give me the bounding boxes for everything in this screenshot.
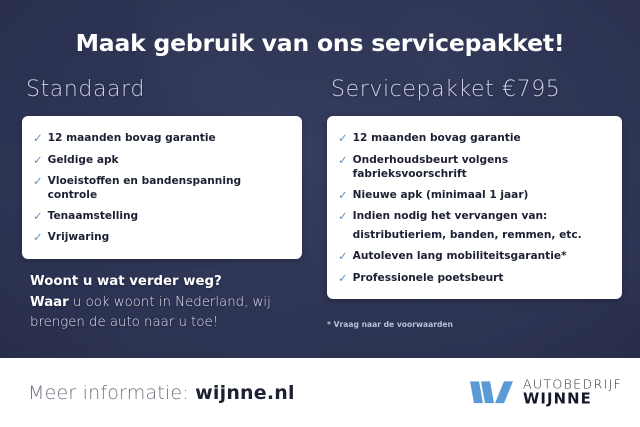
column-title-servicepakket: Servicepakket €795 (331, 77, 622, 102)
delivery-note-line2: Waar u ook woont in Nederland, wij (30, 293, 310, 314)
column-standaard: Standaard ✓ 12 maanden bovag garantie ✓ … (0, 77, 320, 299)
list-item-label: 12 maanden bovag garantie (48, 131, 216, 145)
service-package-banner: Maak gebruik van ons servicepakket! Stan… (0, 0, 640, 427)
more-info-prefix: Meer informatie: (28, 382, 195, 404)
feature-list-servicepakket: ✓ 12 maanden bovag garantie ✓ Onderhouds… (338, 128, 608, 288)
column-title-standaard: Standaard (26, 77, 302, 102)
list-item-label: Professionele poetsbeurt (353, 271, 504, 285)
check-icon: ✓ (33, 153, 43, 167)
list-item: ✓ Vloeistoffen en bandenspanning control… (33, 170, 288, 205)
list-item: ✓ Professionele poetsbeurt (338, 267, 608, 288)
check-icon: ✓ (338, 188, 348, 202)
website-link[interactable]: wijnne.nl (195, 382, 295, 404)
list-item-label: Vrijwaring (48, 230, 110, 244)
list-item-label: Onderhoudsbeurt volgens fabrieksvoorschr… (353, 153, 608, 182)
feature-list-standaard: ✓ 12 maanden bovag garantie ✓ Geldige ap… (33, 128, 288, 248)
banner-headline: Maak gebruik van ons servicepakket! (0, 29, 640, 57)
list-item-label: Nieuwe apk (minimaal 1 jaar) (353, 188, 529, 202)
check-icon: ✓ (338, 153, 348, 167)
list-item: ✓ 12 maanden bovag garantie (338, 128, 608, 149)
check-icon: ✓ (33, 174, 43, 188)
list-item-label: Vloeistoffen en bandenspanning controle (48, 174, 288, 203)
list-item: ✓ Nieuwe apk (minimaal 1 jaar) (338, 185, 608, 206)
list-item: ✓ Onderhoudsbeurt volgens fabrieksvoorsc… (338, 149, 608, 184)
delivery-note-line3: brengen de auto naar u toe! (30, 313, 310, 334)
check-icon: ✓ (338, 209, 348, 223)
delivery-note-heading: Woont u wat verder weg? (30, 272, 310, 293)
logo-line-2: WIJNNE (523, 392, 622, 407)
list-item: ✓ Indien nodig het vervangen van: distri… (338, 206, 608, 246)
more-info-text: Meer informatie: wijnne.nl (28, 382, 295, 404)
check-icon: ✓ (33, 131, 43, 145)
package-columns: Standaard ✓ 12 maanden bovag garantie ✓ … (0, 77, 640, 299)
list-item: ✓ Vrijwaring (33, 227, 288, 248)
check-icon: ✓ (33, 230, 43, 244)
terms-footnote: * Vraag naar de voorwaarden (327, 320, 453, 329)
list-item-label: 12 maanden bovag garantie (353, 131, 521, 145)
delivery-note-line2-rest: u ook woont in Nederland, wij (69, 295, 271, 310)
delivery-note-emphasis: Waar (30, 295, 69, 310)
list-item-label: Indien nodig het vervangen van: (353, 209, 582, 223)
list-item-label: Autoleven lang mobiliteitsgarantie* (353, 249, 567, 263)
feature-card-standaard: ✓ 12 maanden bovag garantie ✓ Geldige ap… (22, 116, 302, 259)
list-item: ✓ Autoleven lang mobiliteitsgarantie* (338, 246, 608, 267)
delivery-note: Woont u wat verder weg? Waar u ook woont… (30, 272, 310, 334)
list-item-label: Tenaamstelling (48, 209, 138, 223)
list-item: ✓ 12 maanden bovag garantie (33, 128, 288, 149)
list-item-label: Geldige apk (48, 153, 119, 167)
logo-wordmark: AUTOBEDRIJF WIJNNE (523, 378, 622, 407)
footer-bar: Meer informatie: wijnne.nl AUTOBEDRIJF W… (0, 358, 640, 427)
company-logo[interactable]: AUTOBEDRIJF WIJNNE (470, 378, 622, 407)
check-icon: ✓ (338, 249, 348, 263)
list-item-sublabel: distributieriem, banden, remmen, etc. (353, 228, 582, 242)
check-icon: ✓ (33, 209, 43, 223)
list-item: ✓ Tenaamstelling (33, 206, 288, 227)
feature-card-servicepakket: ✓ 12 maanden bovag garantie ✓ Onderhouds… (327, 116, 622, 299)
logo-line-1: AUTOBEDRIJF (523, 378, 622, 391)
check-icon: ✓ (338, 131, 348, 145)
list-item: ✓ Geldige apk (33, 149, 288, 170)
list-item-body: Indien nodig het vervangen van: distribu… (353, 209, 582, 243)
banner-content: Maak gebruik van ons servicepakket! Stan… (0, 0, 640, 358)
w-chevrons-logo-icon (470, 381, 514, 403)
check-icon: ✓ (338, 271, 348, 285)
column-servicepakket: Servicepakket €795 ✓ 12 maanden bovag ga… (320, 77, 640, 299)
